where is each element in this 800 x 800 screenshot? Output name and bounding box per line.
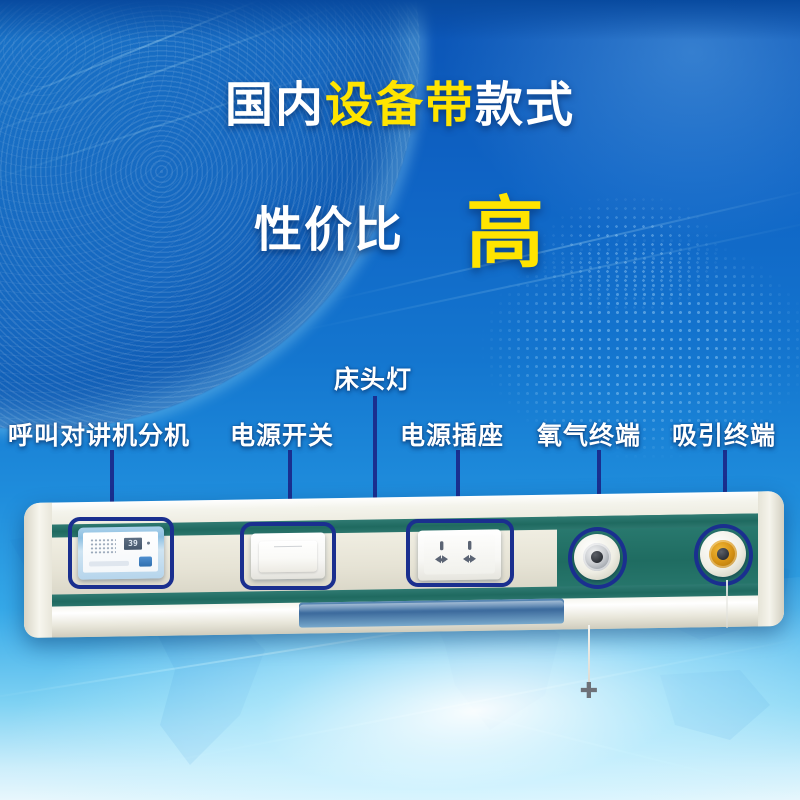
- highlight-box-intercom: [68, 517, 174, 589]
- panel-end-cap-left: [24, 503, 52, 638]
- headline-block: 国内设备带款式 性价比高: [0, 78, 800, 269]
- headline-line-2: 性价比高: [0, 157, 800, 269]
- headline-text-high: 高: [466, 189, 546, 277]
- highlight-circle-suction: [694, 524, 753, 586]
- headline-text-domestic: 国内: [225, 79, 325, 132]
- poster-canvas: 国内设备带款式 性价比高 呼叫对讲机分机 电源开关 床头灯 电源插座 氧气终端 …: [0, 0, 800, 800]
- headline-text-equipment-belt: 设备带: [325, 79, 475, 132]
- callout-label-socket: 电源插座: [400, 416, 504, 452]
- callout-label-switch: 电源开关: [230, 416, 334, 452]
- highlight-box-switch: [240, 522, 336, 590]
- headline-text-style: 款式: [475, 79, 575, 132]
- highlight-box-socket: [406, 519, 514, 587]
- callout-label-lamp: 床头灯: [334, 360, 412, 396]
- callout-label-suction: 吸引终端: [672, 416, 776, 452]
- highlight-circle-oxygen: [568, 527, 627, 589]
- panel-end-cap-right: [758, 491, 784, 626]
- callout-label-oxygen: 氧气终端: [537, 416, 641, 452]
- top-edge-fade: [0, 0, 800, 40]
- cord-cross-fitting-icon: ✚: [578, 680, 600, 702]
- headline-line-1: 国内设备带款式: [0, 78, 800, 135]
- callout-label-intercom: 呼叫对讲机分机: [8, 416, 190, 452]
- suction-hose-cord: [726, 580, 728, 628]
- headline-text-value-ratio: 性价比: [254, 204, 404, 257]
